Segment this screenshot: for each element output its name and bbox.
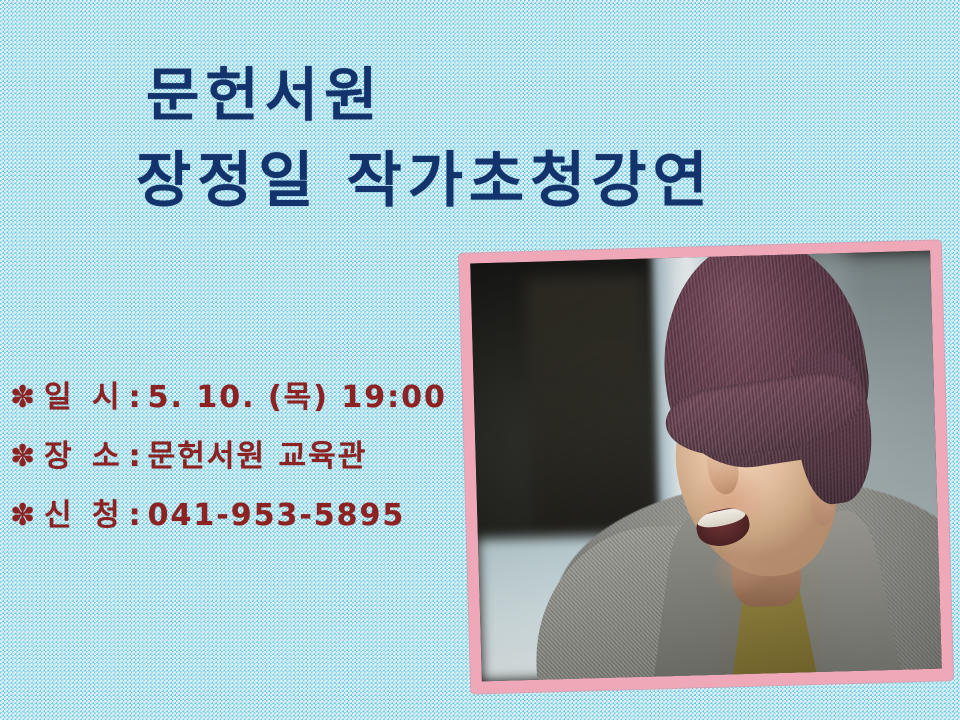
asterisk-bullet-icon: ✽ (10, 380, 44, 415)
detail-label-registration: 신 청 (44, 490, 125, 534)
poster-title-block: 문헌서원 장정일 작가초청강연 (0, 52, 960, 224)
detail-row-registration: ✽ 신 청 : 041-953-5895 (10, 490, 530, 549)
speaker-photo-frame (459, 240, 953, 693)
detail-value-venue: 문헌서원 교육관 (148, 431, 368, 475)
title-line-event: 장정일 작가초청강연 (0, 138, 960, 224)
detail-row-datetime: ✽ 일 시 : 5. 10. (목) 19:00 (10, 372, 530, 431)
detail-separator: : (129, 439, 141, 474)
detail-value-registration-phone: 041-953-5895 (148, 498, 406, 533)
title-line-organization: 문헌서원 (0, 52, 960, 138)
detail-separator: : (129, 498, 141, 533)
detail-label-datetime: 일 시 (44, 372, 125, 416)
detail-value-datetime: 5. 10. (목) 19:00 (148, 372, 447, 416)
speaker-photo (470, 251, 941, 682)
photo-color-grade (470, 251, 941, 682)
poster-canvas: 문헌서원 장정일 작가초청강연 ✽ 일 시 : 5. 10. (목) 19:00… (0, 0, 960, 720)
poster-details-block: ✽ 일 시 : 5. 10. (목) 19:00 ✽ 장 소 : 문헌서원 교육… (10, 372, 530, 549)
detail-label-venue: 장 소 (44, 431, 125, 475)
asterisk-bullet-icon: ✽ (10, 439, 44, 474)
detail-row-venue: ✽ 장 소 : 문헌서원 교육관 (10, 431, 530, 490)
detail-separator: : (129, 380, 141, 415)
asterisk-bullet-icon: ✽ (10, 498, 44, 533)
